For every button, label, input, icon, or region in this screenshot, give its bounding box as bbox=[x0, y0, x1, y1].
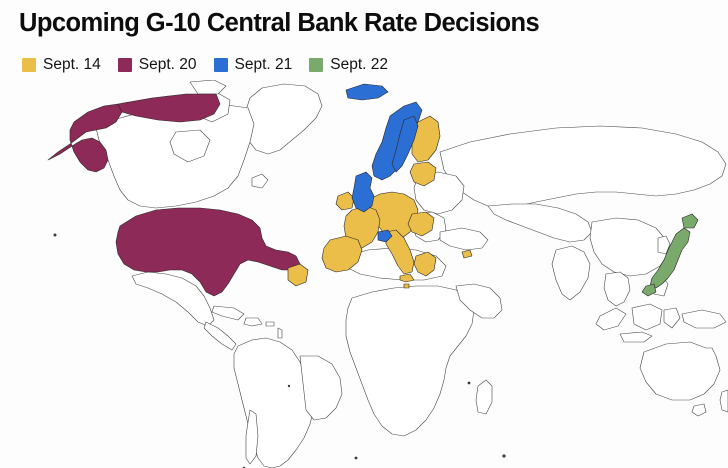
legend-item-sept-14[interactable]: Sept. 14 bbox=[22, 56, 101, 74]
legend-label-sept-20: Sept. 20 bbox=[139, 56, 197, 74]
island-borneo bbox=[632, 304, 662, 330]
island-new-guinea bbox=[682, 310, 726, 328]
legend-swatch-icon-sept-22 bbox=[309, 58, 323, 72]
country-greenland bbox=[244, 84, 322, 154]
island-cuba bbox=[212, 306, 244, 320]
region-united-kingdom[interactable] bbox=[352, 172, 374, 212]
island-lesser-antilles bbox=[278, 328, 282, 338]
region-central-asia bbox=[488, 204, 592, 242]
map-dot-caribbean-1 bbox=[288, 385, 290, 387]
legend-label-sept-14: Sept. 14 bbox=[43, 56, 101, 74]
country-madagascar bbox=[476, 380, 492, 414]
region-russia-asia bbox=[440, 126, 726, 208]
island-puerto-rico bbox=[266, 322, 274, 326]
island-ellesmere bbox=[190, 80, 226, 94]
country-brazil-east bbox=[300, 356, 342, 420]
island-java bbox=[620, 332, 652, 342]
island-tasmania bbox=[692, 404, 706, 416]
legend-item-sept-20[interactable]: Sept. 20 bbox=[118, 56, 197, 74]
island-newfoundland bbox=[252, 174, 268, 188]
map-dot-pacific-1 bbox=[468, 382, 471, 385]
country-china bbox=[590, 218, 668, 276]
legend-swatch-icon-sept-20 bbox=[118, 58, 132, 72]
island-sumatra bbox=[596, 308, 626, 330]
world-map bbox=[0, 80, 728, 468]
map-dot-indian-1 bbox=[502, 454, 505, 457]
island-sulawesi bbox=[664, 308, 680, 328]
continent-africa bbox=[346, 286, 474, 436]
legend-swatch-icon-sept-14 bbox=[22, 58, 36, 72]
region-french-guiana[interactable] bbox=[288, 264, 308, 286]
country-india bbox=[552, 246, 590, 300]
country-turkey bbox=[440, 228, 488, 250]
region-cyprus[interactable] bbox=[462, 250, 472, 258]
island-new-zealand bbox=[720, 390, 728, 412]
legend-item-sept-22[interactable]: Sept. 22 bbox=[309, 56, 388, 74]
region-iceland[interactable] bbox=[346, 84, 388, 100]
region-japan-hokkaido[interactable] bbox=[682, 214, 698, 228]
legend-item-sept-21[interactable]: Sept. 21 bbox=[214, 56, 293, 74]
region-indochina bbox=[604, 272, 630, 306]
legend-label-sept-22: Sept. 22 bbox=[330, 56, 388, 74]
continent-australia bbox=[640, 342, 720, 400]
map-dot-atlantic-1 bbox=[54, 234, 57, 237]
chart-canvas: Upcoming G-10 Central Bank Rate Decision… bbox=[0, 0, 728, 468]
region-central-america bbox=[204, 322, 236, 350]
legend-label-sept-21: Sept. 21 bbox=[235, 56, 293, 74]
region-malta[interactable] bbox=[404, 284, 409, 288]
world-map-svg bbox=[0, 80, 728, 468]
island-hispaniola bbox=[244, 318, 262, 326]
page-title: Upcoming G-10 Central Bank Rate Decision… bbox=[19, 8, 539, 38]
map-dot-atlantic-2 bbox=[355, 457, 358, 460]
legend-swatch-icon-sept-21 bbox=[214, 58, 228, 72]
region-ireland[interactable] bbox=[336, 192, 354, 210]
legend: Sept. 14 Sept. 20 Sept. 21 Sept. 22 bbox=[22, 54, 388, 76]
